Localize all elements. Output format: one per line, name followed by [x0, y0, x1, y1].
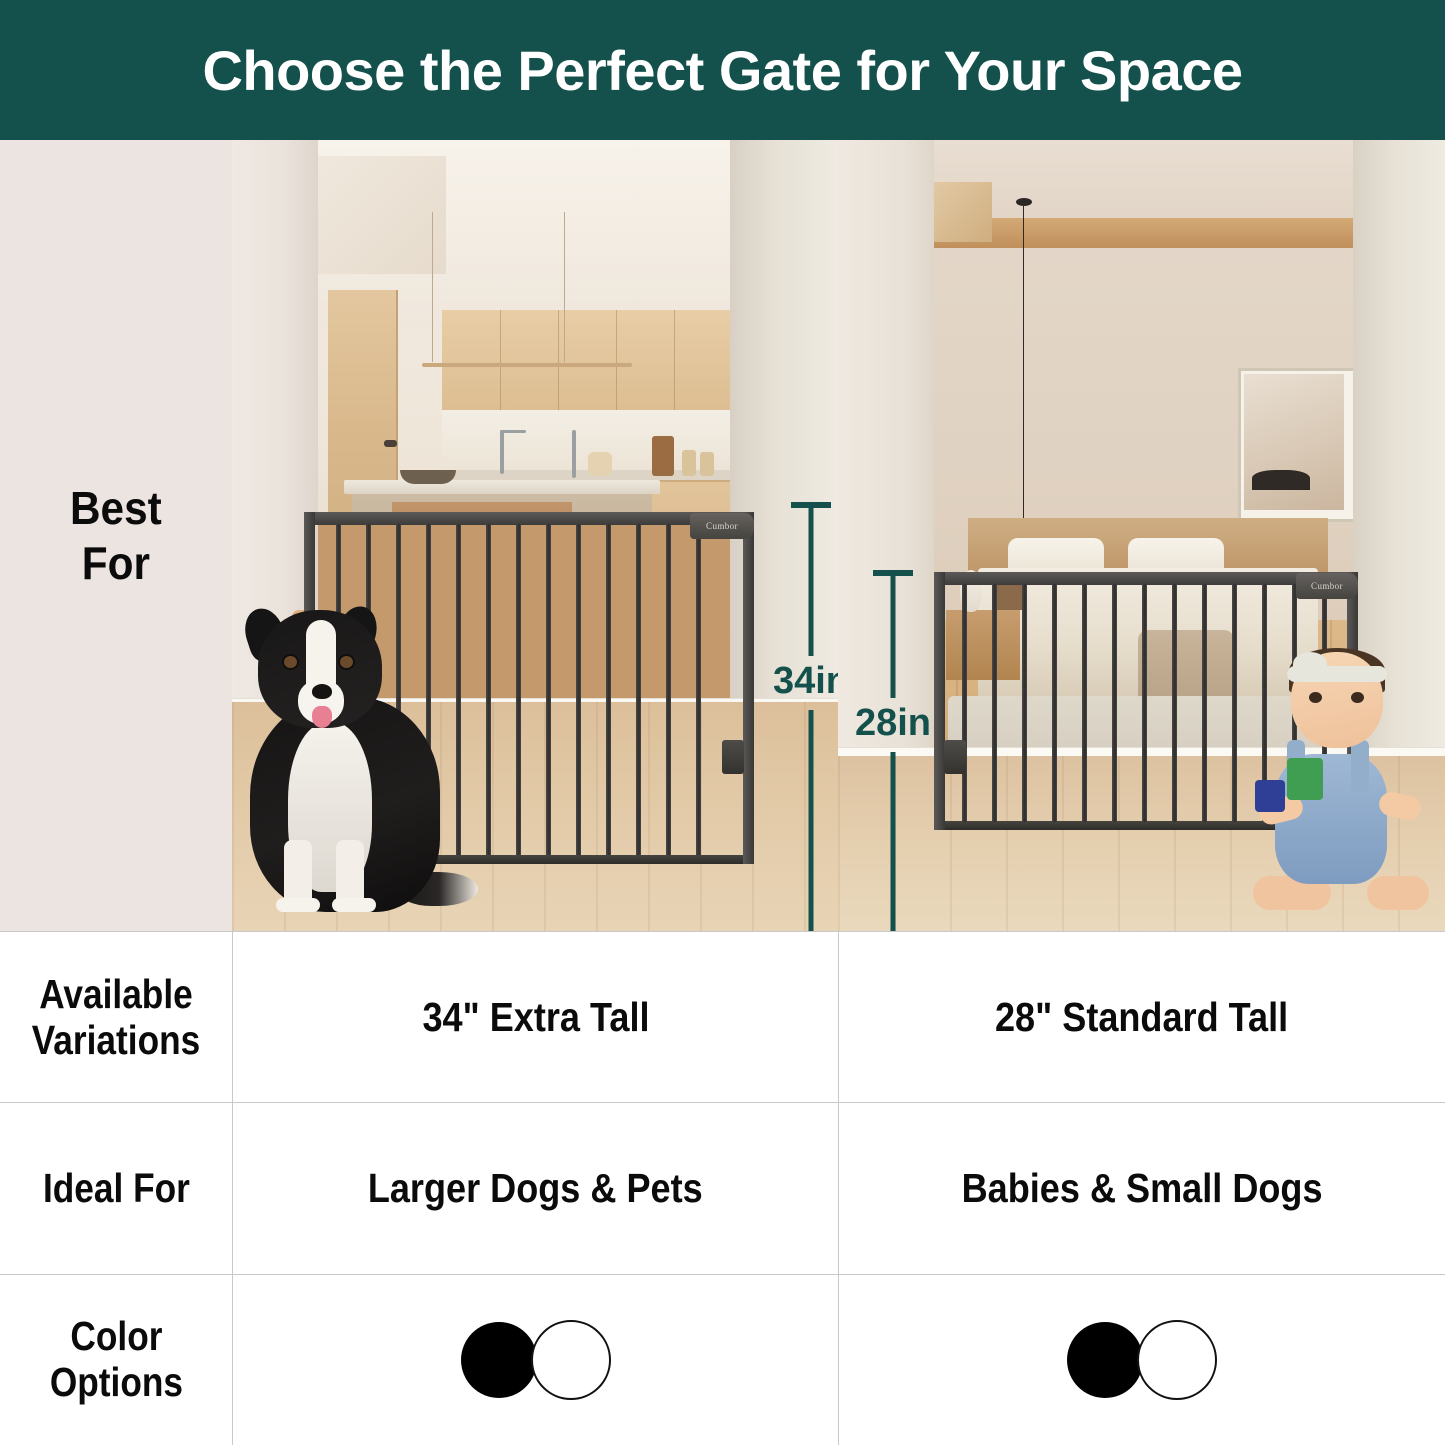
gate-brand-badge: Cumbor — [1296, 573, 1358, 599]
color-swatch-group — [1067, 1320, 1217, 1400]
dog-paw — [332, 898, 376, 912]
baby-eye — [1309, 692, 1322, 703]
table-row-ideal-for: Ideal For Larger Dogs & Pets Babies & Sm… — [0, 1103, 1445, 1275]
faucet-spout — [500, 430, 526, 433]
kitchen-faucet — [500, 430, 504, 474]
variations-value-column-a: 34" Extra Tall — [233, 932, 838, 1103]
measurement-label: 34in — [773, 660, 838, 703]
toy-block-blue — [1255, 780, 1285, 812]
variations-value-column-b: 28" Standard Tall — [839, 932, 1445, 1103]
gate-brand-badge: Cumbor — [690, 513, 754, 539]
color-swatch-black[interactable] — [461, 1322, 537, 1398]
gate-latch[interactable] — [944, 740, 966, 774]
row-label-color-options: Color Options — [0, 1275, 232, 1445]
best-for-label-line2: For — [70, 536, 162, 591]
baby-toddler — [1235, 630, 1435, 910]
gate-latch[interactable] — [722, 740, 744, 774]
baby-leg — [1367, 876, 1429, 910]
bedroom-corner-molding — [934, 182, 992, 242]
kitchen-bottle — [652, 436, 674, 476]
color-swatch-black[interactable] — [1067, 1322, 1143, 1398]
row-label-best-for: Best For — [0, 140, 232, 932]
product-comparison-infographic: Choose the Perfect Gate for Your Space B… — [0, 0, 1445, 1445]
pendant-cord — [564, 212, 565, 362]
page-title: Choose the Perfect Gate for Your Space — [202, 38, 1242, 103]
ceiling-light-mount — [1016, 198, 1032, 206]
best-for-label-line1: Best — [70, 481, 162, 536]
dog-tongue — [312, 706, 332, 728]
pendant-cord — [432, 212, 433, 362]
best-for-label: Best For — [70, 481, 162, 591]
kitchen-island-countertop — [344, 480, 660, 494]
measurement-label: 28in — [855, 702, 931, 745]
measurement-line-lower — [809, 710, 814, 932]
table-row-color-options: Color Options — [0, 1275, 1445, 1445]
kitchen-jar — [700, 452, 714, 476]
color-swatch-group — [461, 1320, 611, 1400]
pendant-cord — [1023, 202, 1024, 532]
color-swatch-white[interactable] — [1137, 1320, 1217, 1400]
measurement-line-upper — [891, 574, 896, 698]
row-label-available-variations: Available Variations — [0, 932, 232, 1103]
toy-block-green — [1287, 758, 1323, 800]
bedroom-scene-panel: Cumbor — [838, 140, 1445, 932]
border-collie-dog — [240, 602, 470, 912]
table-row-available-variations: Available Variations 34" Extra Tall 28" … — [0, 932, 1445, 1103]
bedroom-crown-molding — [934, 218, 1353, 248]
artwork-shape — [1252, 470, 1310, 490]
gate-brand-label: Cumbor — [706, 521, 738, 531]
row-label-ideal-for: Ideal For — [0, 1103, 232, 1275]
gate-brand-label: Cumbor — [1311, 581, 1343, 591]
kitchen-soffit — [318, 156, 446, 274]
measurement-34in: 34in — [766, 502, 838, 932]
door-handle-icon — [384, 440, 397, 447]
color-options-label-line2: Options — [49, 1360, 182, 1406]
kitchen-kettle — [588, 452, 612, 476]
fruit-bowl — [400, 470, 456, 484]
baby-headband-bow — [1293, 652, 1327, 676]
dog-nose — [312, 684, 332, 699]
color-options-column-b — [839, 1275, 1445, 1445]
measurement-line-upper — [809, 506, 814, 656]
kitchen-upper-cabinets — [442, 310, 732, 413]
measurement-28in: 28in — [848, 570, 938, 932]
dog-paw — [276, 898, 320, 912]
dog-eye — [282, 654, 299, 670]
kitchen-faucet — [572, 430, 576, 478]
color-options-label-line1: Color — [49, 1314, 182, 1360]
ideal-for-value-column-b: Babies & Small Dogs — [839, 1103, 1445, 1275]
measurement-line-lower — [891, 752, 896, 932]
comparison-table: Best For — [0, 140, 1445, 1445]
table-row-best-for: Best For — [0, 140, 1445, 932]
variations-label-line1: Available — [32, 972, 201, 1018]
pendant-light-bar — [422, 363, 632, 367]
color-swatch-white[interactable] — [531, 1320, 611, 1400]
overall-strap — [1351, 740, 1369, 792]
dog-eye — [338, 654, 355, 670]
kitchen-jar — [682, 450, 696, 476]
variations-label-line2: Variations — [32, 1018, 201, 1064]
header-banner: Choose the Perfect Gate for Your Space — [0, 0, 1445, 140]
color-options-column-a — [233, 1275, 838, 1445]
gate-top-rail — [304, 512, 754, 525]
baby-eye — [1351, 692, 1364, 703]
ideal-for-label-line1: Ideal For — [43, 1166, 190, 1212]
ideal-for-value-column-a: Larger Dogs & Pets — [233, 1103, 838, 1275]
kitchen-scene-panel: Cumbor — [232, 140, 838, 932]
gate-right-post — [743, 512, 754, 864]
